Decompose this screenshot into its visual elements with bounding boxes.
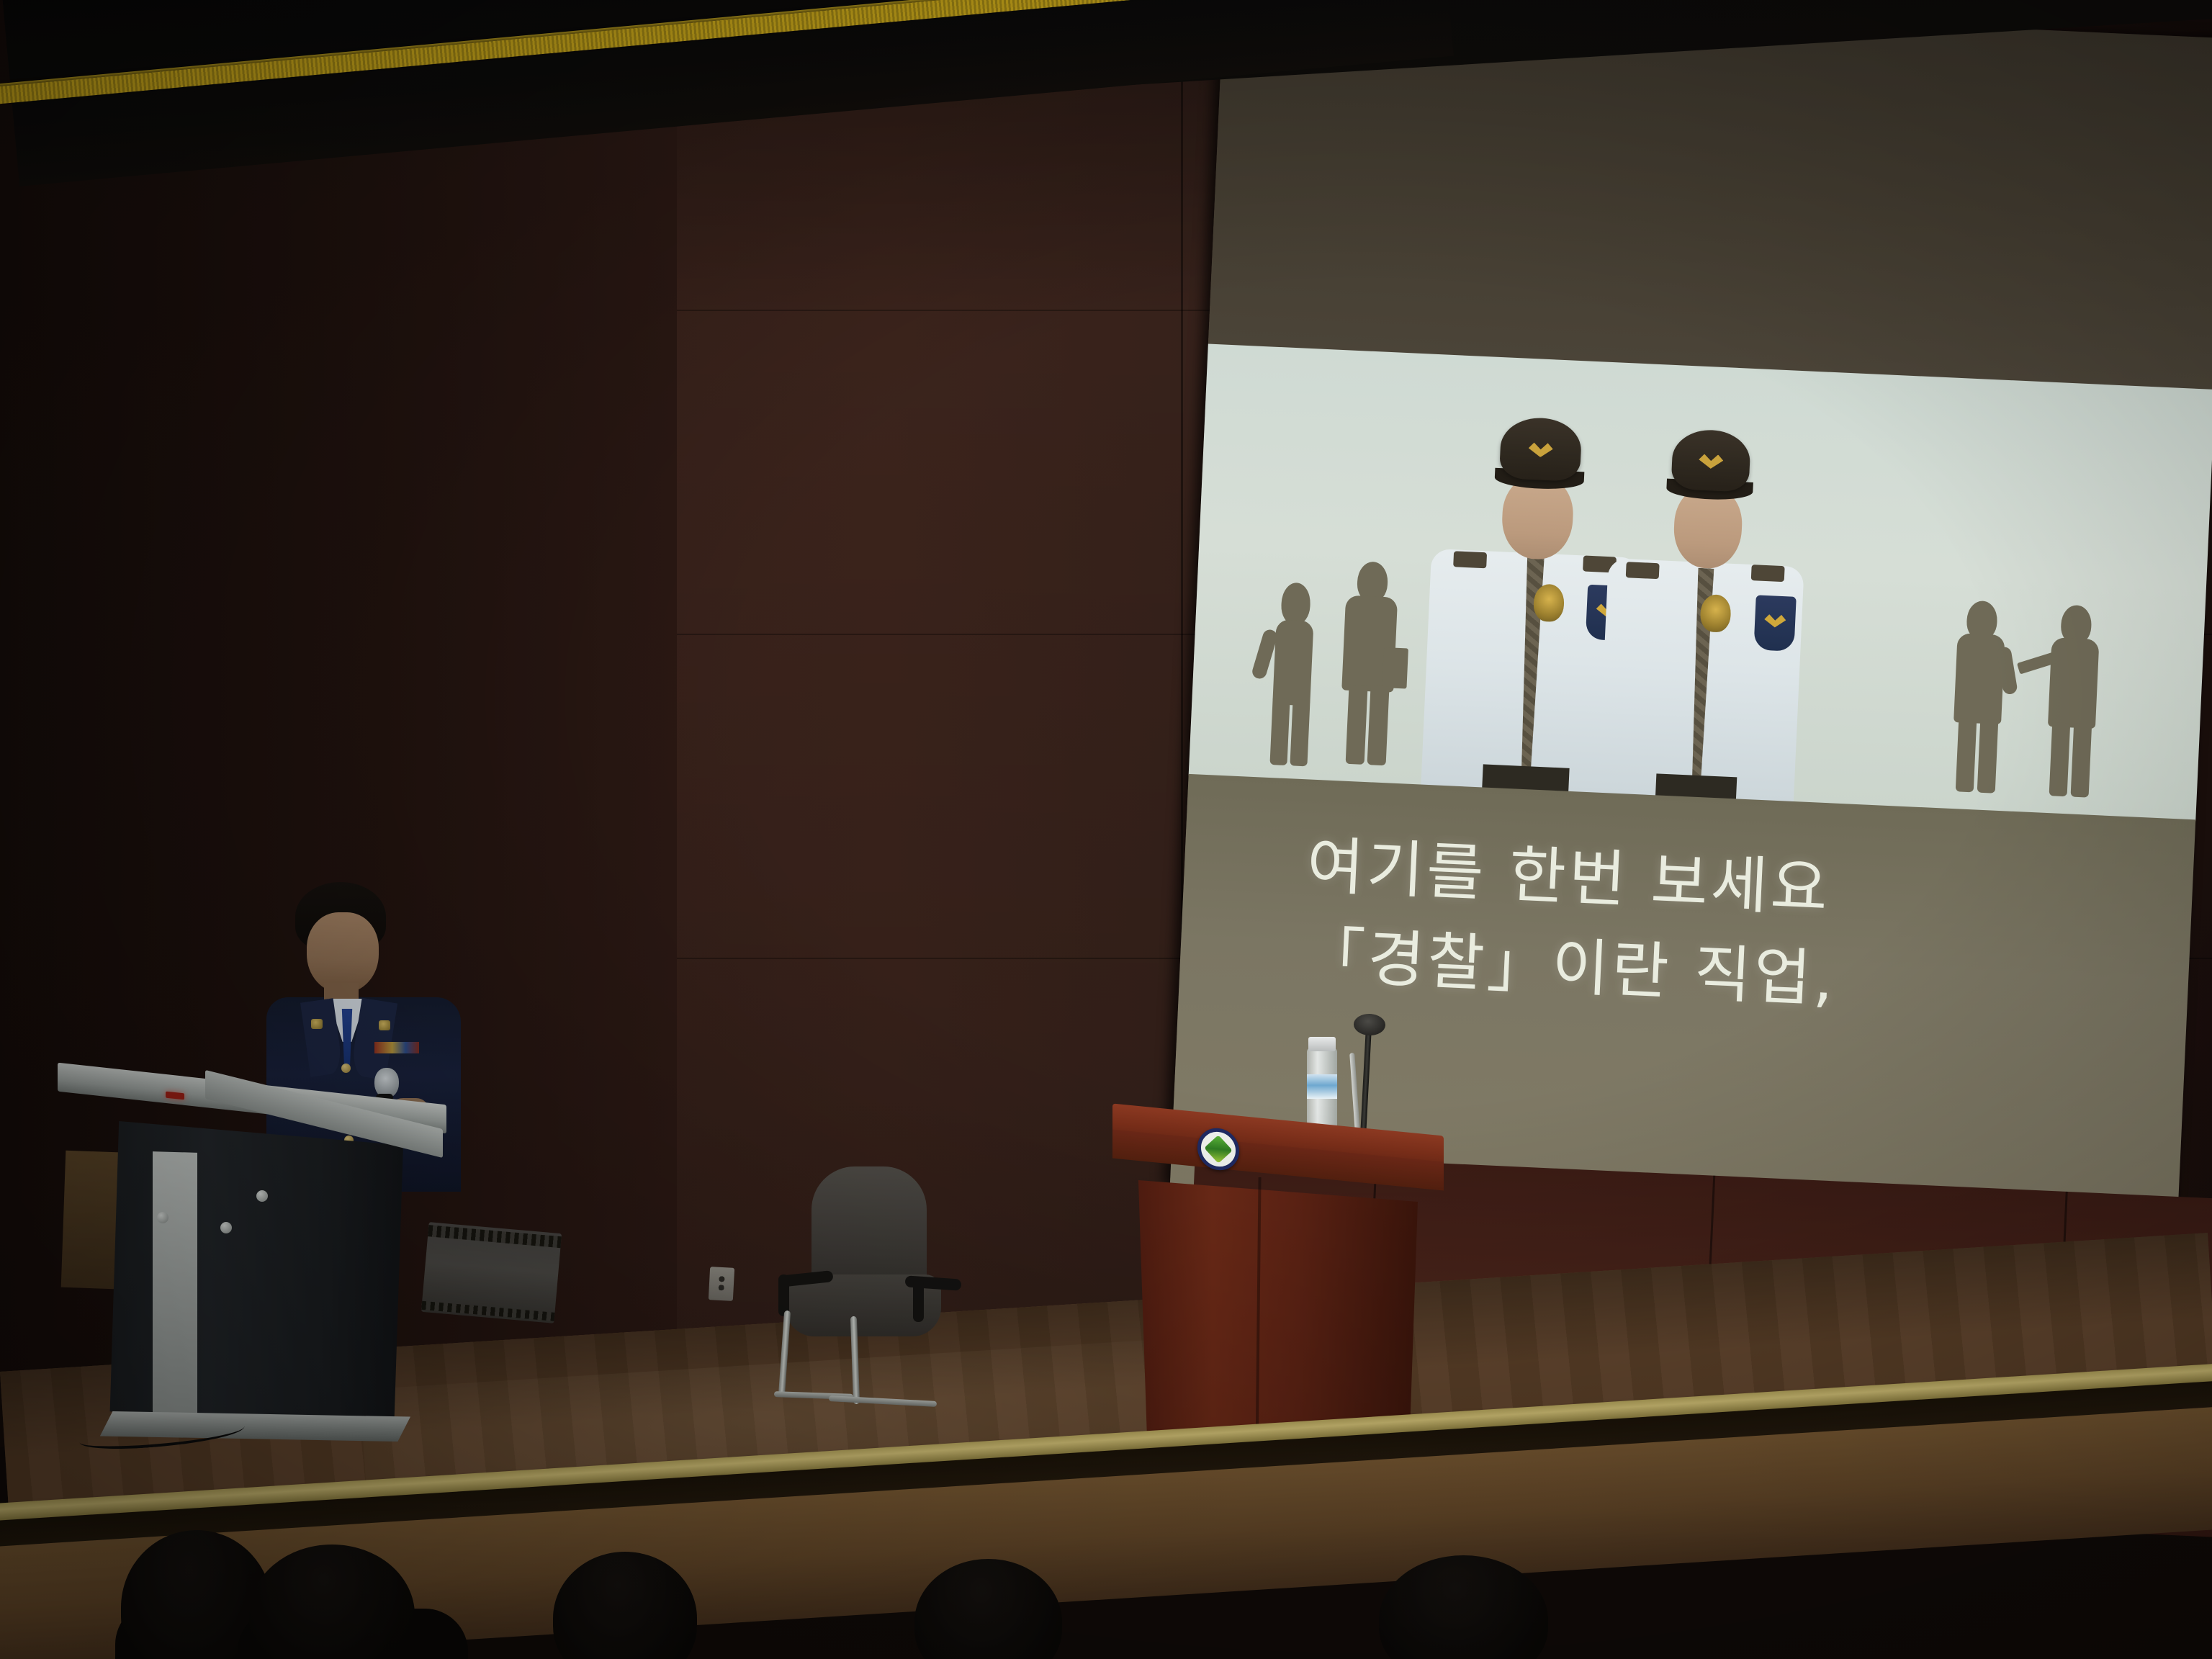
grey-armchair: [760, 1166, 968, 1419]
officer-collar-pin-left: [311, 1019, 323, 1029]
wall-outlet[interactable]: [709, 1267, 734, 1301]
lectern-knob-2[interactable]: [157, 1212, 168, 1223]
silhouette-man-with-briefcase: [1337, 560, 1401, 767]
slide-photo: [1189, 343, 2212, 821]
chair-leg-left: [778, 1310, 791, 1397]
water-bottle-label: [1307, 1074, 1337, 1099]
water-bottle-cap: [1308, 1037, 1336, 1051]
officer-button-1: [341, 1064, 351, 1073]
silhouette-man-hand-on-hip: [1948, 600, 2009, 795]
lectern-knob-1[interactable]: [256, 1190, 268, 1202]
silhouette-woman-hand-on-hip: [1264, 582, 1321, 764]
crest-leaf-motif: [1204, 1135, 1233, 1164]
slide-female-officer: [1591, 391, 1818, 804]
lectern-body: [101, 1121, 403, 1424]
chair-arm-post-right: [913, 1280, 924, 1322]
lectern-accent-stripe: [153, 1151, 197, 1416]
presenter-lectern: [122, 1084, 432, 1451]
wall-heater: [421, 1222, 562, 1323]
auditorium-scene: 여기를 한번 보세요 「경찰」이란 직업,: [0, 0, 2212, 1659]
silhouette-man-with-clipboard: [2042, 604, 2104, 799]
officer-collar-pin-right: [379, 1020, 390, 1030]
officer-service-ribbons: [374, 1042, 419, 1053]
officer-face: [307, 912, 379, 993]
lectern-knob-3[interactable]: [220, 1222, 232, 1233]
chair-foot-right: [829, 1395, 937, 1407]
